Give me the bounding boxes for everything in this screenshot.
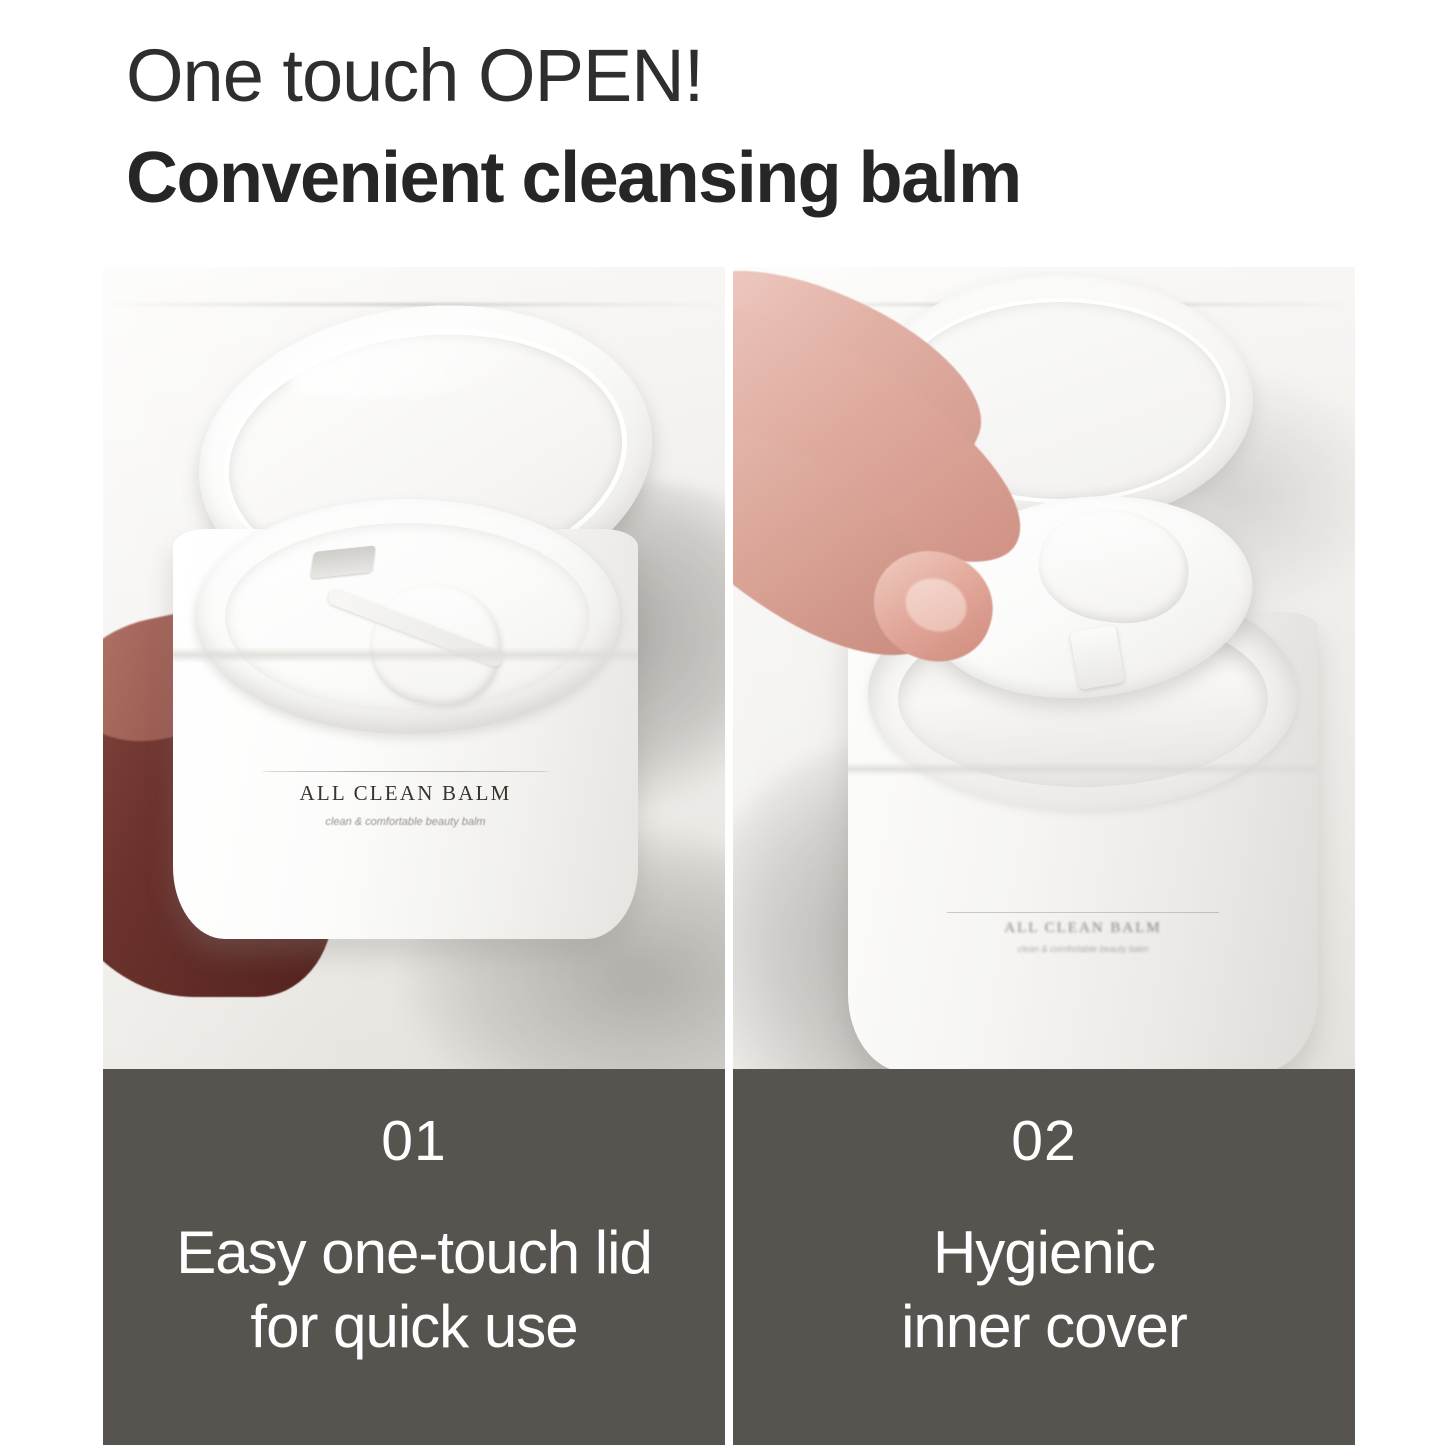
page-title-line-1: One touch OPEN! (126, 36, 1386, 116)
caption-number: 02 (1011, 1113, 1076, 1170)
photo-panel-grid: ALL CLEAN BALM clean & comfortable beaut… (103, 267, 1358, 1069)
jar-front-label: ALL CLEAN BALM clean & comfortable beaut… (173, 771, 638, 828)
inner-cover-pull-tab (311, 545, 376, 578)
product-photo-inner-cover: ALL CLEAN BALM clean & comfortable beaut… (733, 267, 1355, 1069)
caption-text: Easy one-touch lid for quick use (176, 1216, 652, 1365)
product-photo-one-touch-lid: ALL CLEAN BALM clean & comfortable beaut… (103, 267, 725, 1069)
label-rule (261, 771, 549, 772)
inner-cover-pull-tab (1070, 625, 1125, 690)
caption-number: 01 (381, 1113, 446, 1170)
label-product-name: ALL CLEAN BALM (848, 920, 1318, 937)
label-rule (947, 912, 1220, 913)
label-product-tagline: clean & comfortable beauty balm (173, 816, 638, 828)
jar-seam-band (173, 647, 638, 663)
caption-01: 01 Easy one-touch lid for quick use (103, 1069, 725, 1445)
moulded-spatula-head (1032, 500, 1196, 632)
label-product-tagline: clean & comfortable beauty balm (848, 944, 1318, 954)
jar-seam-band (848, 762, 1318, 776)
product-feature-page: One touch OPEN! Convenient cleansing bal… (0, 0, 1445, 1445)
jar-opening (195, 499, 620, 734)
balm-jar-body: ALL CLEAN BALM clean & comfortable beaut… (173, 529, 638, 939)
caption-text: Hygienic inner cover (901, 1216, 1187, 1365)
page-headings: One touch OPEN! Convenient cleansing bal… (126, 36, 1386, 219)
label-product-name: ALL CLEAN BALM (173, 781, 638, 806)
inner-cover-plate (225, 523, 591, 711)
caption-band: 01 Easy one-touch lid for quick use 02 H… (103, 1069, 1358, 1445)
backdrop-seam (103, 303, 725, 306)
page-title-line-2: Convenient cleansing balm (126, 138, 1386, 219)
caption-02: 02 Hygienic inner cover (733, 1069, 1355, 1445)
jar-front-label: ALL CLEAN BALM clean & comfortable beaut… (848, 912, 1318, 954)
